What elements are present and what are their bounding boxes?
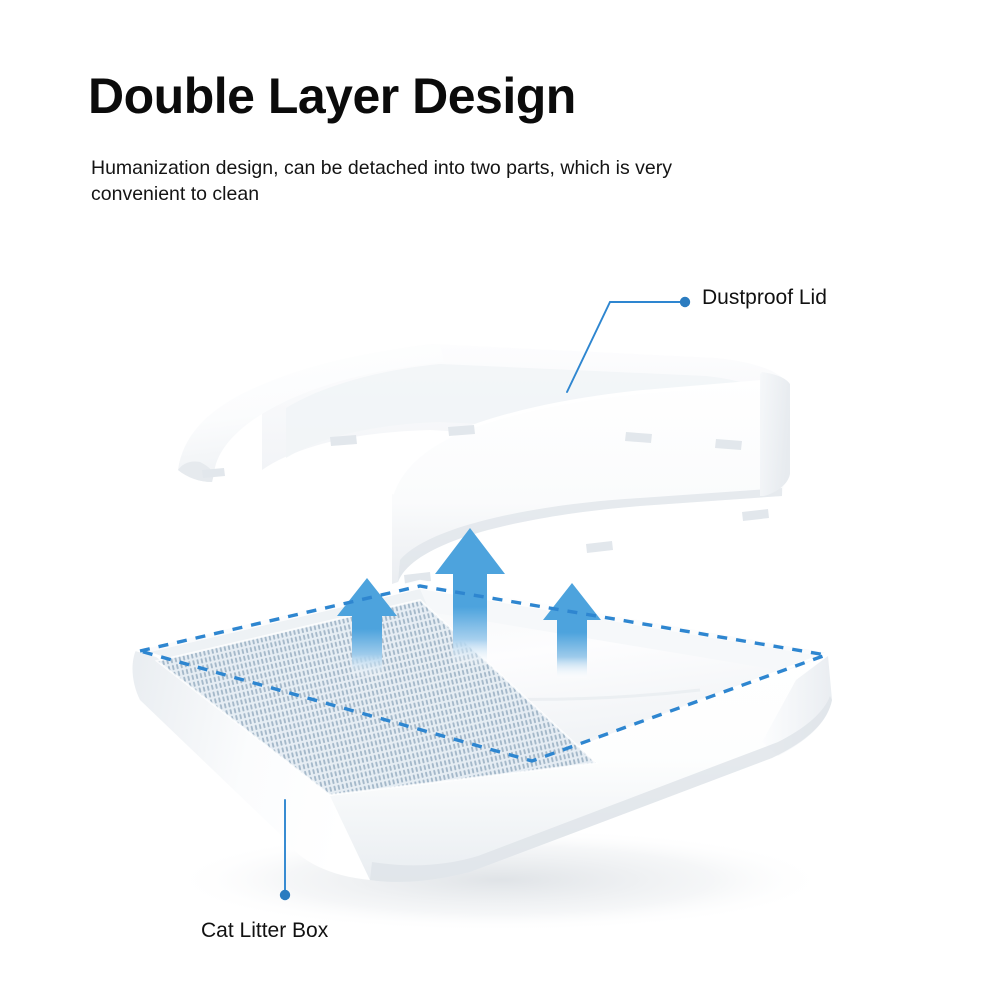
leader-dot-dustproof-lid [680,297,690,307]
infographic-page: Double Layer Design Humanization design,… [0,0,1000,1000]
separation-arrows [337,528,601,678]
lid-tab [742,509,769,521]
callout-label-dustproof-lid: Dustproof Lid [702,286,827,310]
lid-tab [586,541,613,553]
lid-right-cap [760,372,790,496]
illustration-svg [0,0,1000,1000]
product-illustration [0,0,1000,1000]
callout-label-cat-litter-box: Cat Litter Box [201,919,328,943]
leader-dot-cat-litter-box [280,890,290,900]
